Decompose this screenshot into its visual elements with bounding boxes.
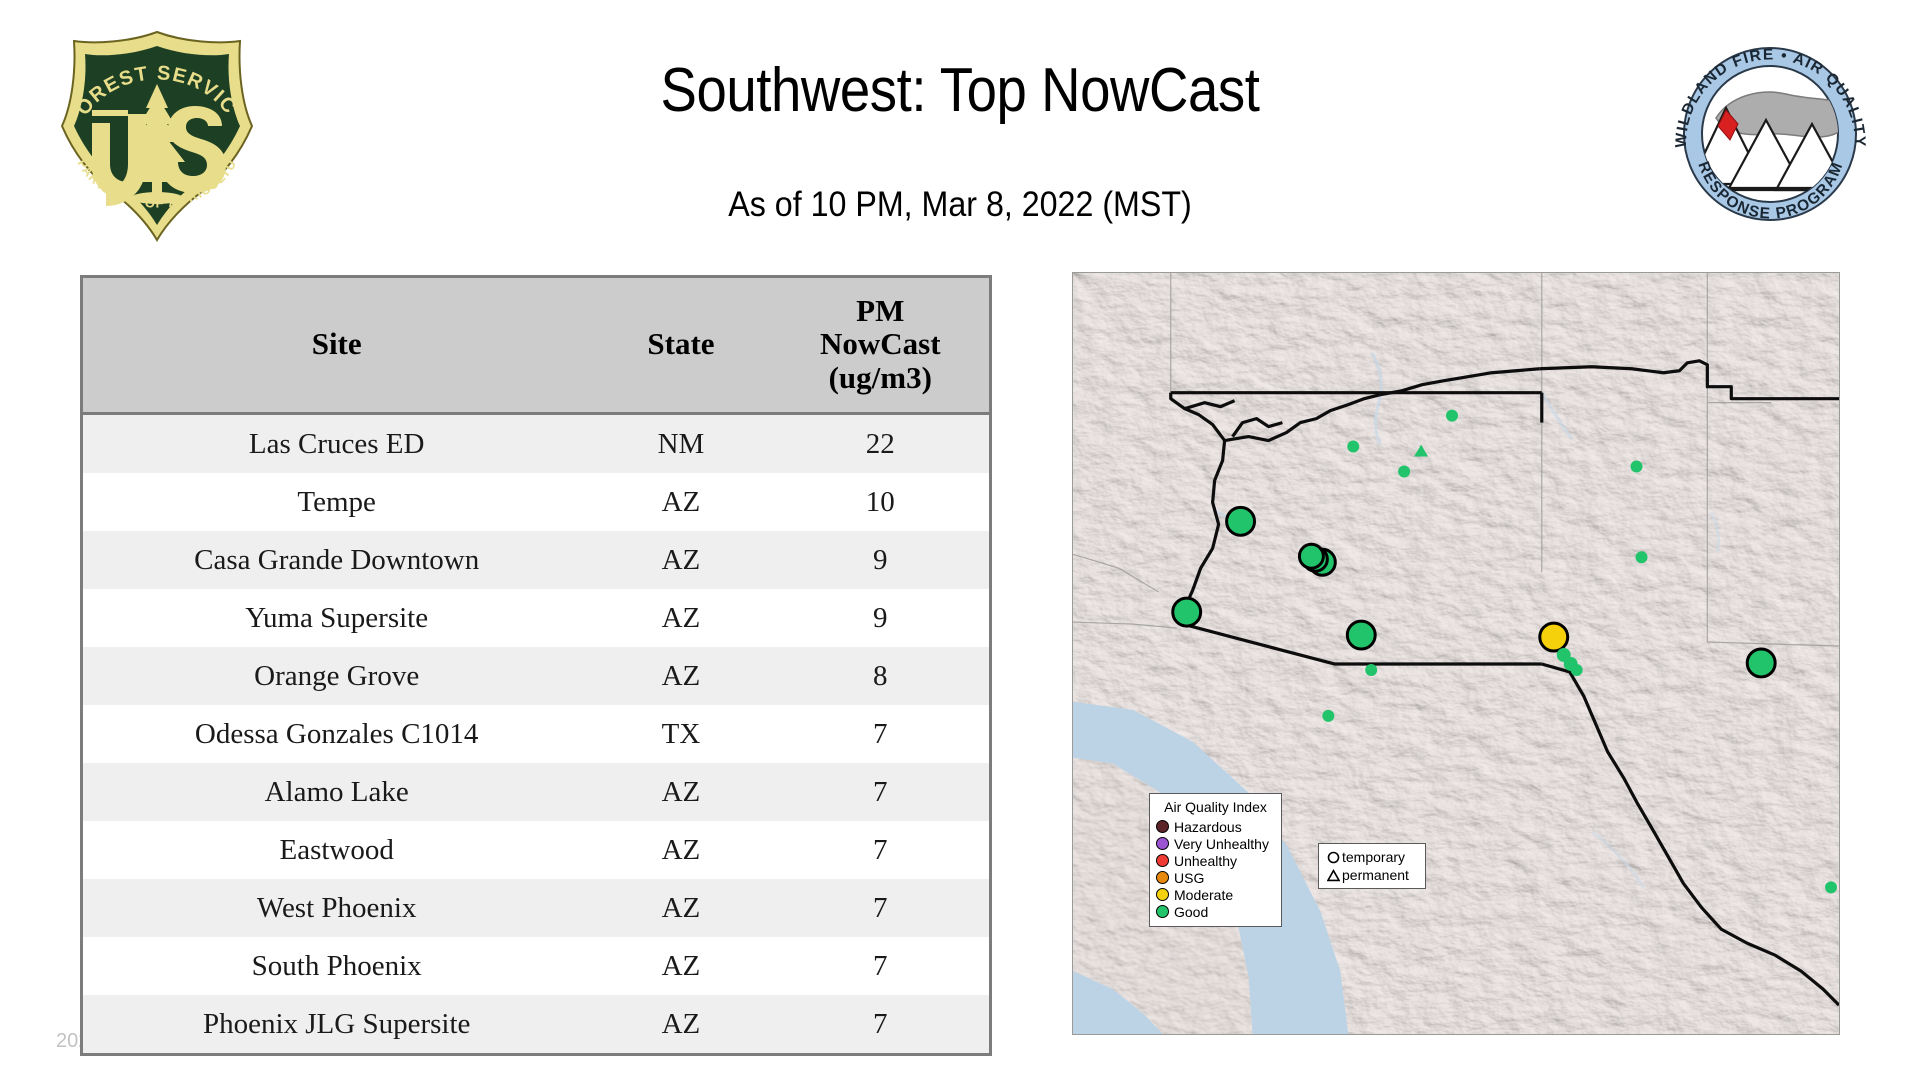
aqi-swatch-icon [1156,820,1169,833]
cell-pm-nowcast: 7 [772,879,989,937]
table-row: EastwoodAZ7 [83,821,989,879]
table-row: Las Cruces EDNM22 [83,414,989,474]
cell-state: AZ [590,763,771,821]
map-monitor-marker[interactable] [1446,410,1458,422]
table-row: Casa Grande DowntownAZ9 [83,531,989,589]
legend-row-temporary: temporary [1324,848,1420,866]
map-monitor-marker[interactable] [1322,710,1334,722]
map-monitor-marker[interactable] [1299,544,1323,568]
aqi-swatch-icon [1156,837,1169,850]
aqi-legend-title: Air Quality Index [1156,799,1275,815]
aqi-legend-label: Unhealthy [1174,854,1237,868]
column-header-pm-nowcast: PM NowCast (ug/m3) [772,278,989,414]
aqi-legend-row: Very Unhealthy [1156,835,1275,852]
cell-site: Yuma Supersite [83,589,590,647]
cell-state: AZ [590,879,771,937]
cell-state: AZ [590,821,771,879]
cell-state: AZ [590,589,771,647]
cell-pm-nowcast: 7 [772,937,989,995]
map-monitor-marker[interactable] [1347,441,1359,453]
aqi-legend-label: Very Unhealthy [1174,837,1269,851]
map-panel[interactable]: Air Quality Index HazardousVery Unhealth… [1072,272,1840,1035]
legend-row-permanent: permanent [1324,866,1420,884]
cell-state: AZ [590,647,771,705]
table-row: Yuma SupersiteAZ9 [83,589,989,647]
table-row: Phoenix JLG SupersiteAZ7 [83,995,989,1053]
table-row: Alamo LakeAZ7 [83,763,989,821]
triangle-outline-icon [1324,869,1342,882]
aqi-legend-row: Good [1156,903,1275,920]
column-header-state: State [590,278,771,414]
cell-site: Casa Grande Downtown [83,531,590,589]
aqi-legend-label: Hazardous [1174,820,1242,834]
aqi-legend: Air Quality Index HazardousVery Unhealth… [1149,793,1282,927]
aqi-legend-label: USG [1174,871,1204,885]
marker-type-legend: temporary permanent [1318,843,1426,889]
cell-pm-nowcast: 7 [772,821,989,879]
table-row: South PhoenixAZ7 [83,937,989,995]
map-monitor-marker[interactable] [1747,649,1775,677]
table-row: Orange GroveAZ8 [83,647,989,705]
map-monitor-marker[interactable] [1636,551,1648,563]
map-monitor-marker[interactable] [1365,664,1377,676]
nowcast-table: Site State PM NowCast (ug/m3) Las Cruces… [80,275,992,1056]
map-monitor-marker[interactable] [1631,461,1643,473]
aqi-legend-label: Good [1174,905,1208,919]
legend-label-permanent: permanent [1342,868,1409,882]
aqi-legend-row: Moderate [1156,886,1275,903]
aqi-legend-row: Hazardous [1156,818,1275,835]
map-monitor-marker[interactable] [1398,465,1410,477]
cell-pm-nowcast: 9 [772,531,989,589]
table-row: Odessa Gonzales C1014TX7 [83,705,989,763]
pm-header-line-1: PM [776,294,985,327]
cell-site: Tempe [83,473,590,531]
cell-site: Orange Grove [83,647,590,705]
cell-site: Las Cruces ED [83,414,590,474]
cell-site: Eastwood [83,821,590,879]
cell-pm-nowcast: 7 [772,705,989,763]
cell-site: Phoenix JLG Supersite [83,995,590,1053]
cell-pm-nowcast: 7 [772,995,989,1053]
legend-label-temporary: temporary [1342,850,1405,864]
table-row: TempeAZ10 [83,473,989,531]
cell-site: West Phoenix [83,879,590,937]
cell-site: Odessa Gonzales C1014 [83,705,590,763]
cell-site: Alamo Lake [83,763,590,821]
map-monitor-marker[interactable] [1227,507,1255,535]
aqi-swatch-icon [1156,888,1169,901]
map-monitor-marker[interactable] [1571,664,1583,676]
aqi-swatch-icon [1156,854,1169,867]
cell-state: AZ [590,473,771,531]
page-subtitle: As of 10 PM, Mar 8, 2022 (MST) [77,185,1843,225]
pm-header-line-2: NowCast [776,327,985,360]
map-monitor-marker[interactable] [1825,881,1837,893]
cell-pm-nowcast: 10 [772,473,989,531]
cell-pm-nowcast: 9 [772,589,989,647]
page-title: Southwest: Top NowCast [115,58,1805,123]
aqi-legend-label: Moderate [1174,888,1233,902]
aqi-swatch-icon [1156,905,1169,918]
cell-pm-nowcast: 7 [772,763,989,821]
table-header-row: Site State PM NowCast (ug/m3) [83,278,989,414]
cell-state: TX [590,705,771,763]
map-monitor-marker[interactable] [1173,598,1201,626]
cell-site: South Phoenix [83,937,590,995]
map-monitor-marker[interactable] [1347,621,1375,649]
cell-pm-nowcast: 8 [772,647,989,705]
cell-state: NM [590,414,771,474]
cell-state: AZ [590,531,771,589]
aqi-swatch-icon [1156,871,1169,884]
column-header-site: Site [83,278,590,414]
table-row: West PhoenixAZ7 [83,879,989,937]
circle-outline-icon [1324,851,1342,864]
cell-pm-nowcast: 22 [772,414,989,474]
cell-state: AZ [590,995,771,1053]
pm-header-line-3: (ug/m3) [776,361,985,394]
map-monitor-marker[interactable] [1540,623,1568,651]
cell-state: AZ [590,937,771,995]
aqi-legend-row: USG [1156,869,1275,886]
aqi-legend-row: Unhealthy [1156,852,1275,869]
